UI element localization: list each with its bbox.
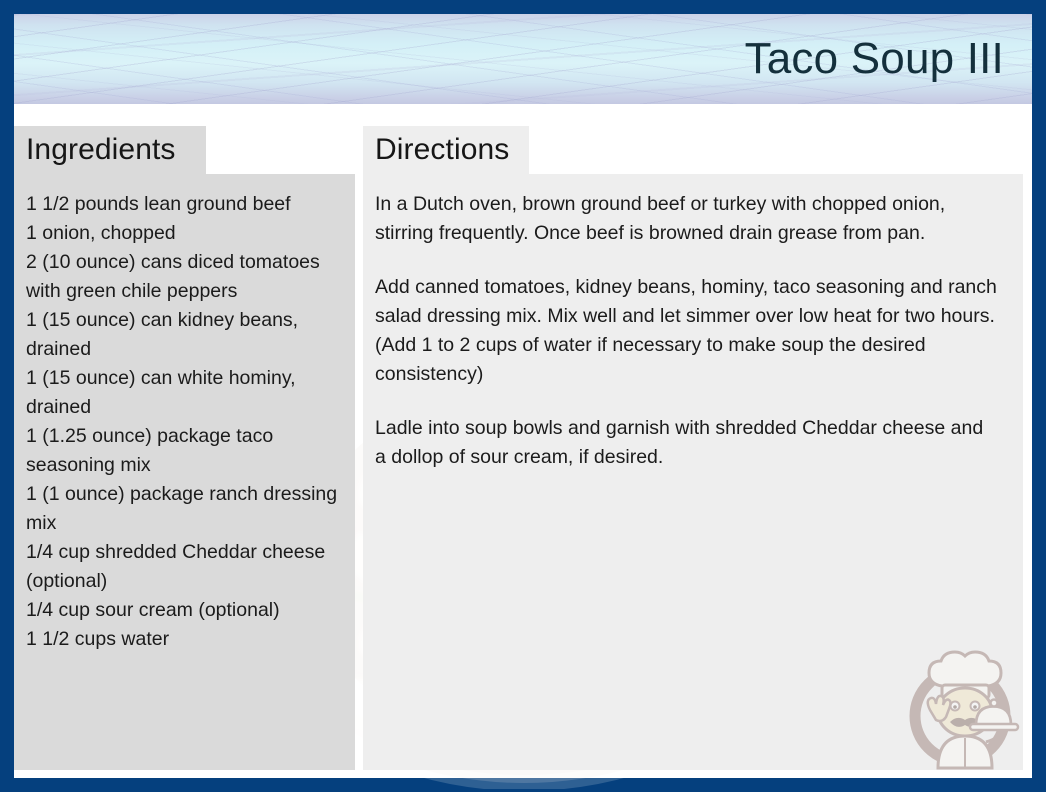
title-banner: Taco Soup III bbox=[14, 14, 1032, 104]
ingredients-heading-label: Ingredients bbox=[26, 133, 176, 167]
ingredient-item: 1 (1 ounce) package ranch dressing mix bbox=[26, 480, 341, 538]
ingredient-item: 1 onion, chopped bbox=[26, 219, 341, 248]
ingredient-item: 1 1/2 pounds lean ground beef bbox=[26, 190, 341, 219]
slide-inner-canvas: Taco Soup III bbox=[14, 14, 1032, 778]
ingredients-heading: Ingredients bbox=[14, 126, 206, 174]
directions-panel: In a Dutch oven, brown ground beef or tu… bbox=[363, 174, 1023, 770]
direction-step: In a Dutch oven, brown ground beef or tu… bbox=[375, 190, 999, 248]
directions-heading-label: Directions bbox=[375, 133, 509, 167]
ingredient-item: 1/4 cup shredded Cheddar cheese (optiona… bbox=[26, 538, 341, 596]
direction-step: Add canned tomatoes, kidney beans, homin… bbox=[375, 273, 999, 389]
ingredient-item: 1/4 cup sour cream (optional) bbox=[26, 596, 341, 625]
ingredient-item: 1 1/2 cups water bbox=[26, 625, 341, 654]
direction-step: Ladle into soup bowls and garnish with s… bbox=[375, 414, 999, 472]
ingredient-item: 2 (10 ounce) cans diced tomatoes with gr… bbox=[26, 248, 341, 306]
ingredient-item: 1 (15 ounce) can kidney beans, drained bbox=[26, 306, 341, 364]
ingredient-item: 1 (1.25 ounce) package taco seasoning mi… bbox=[26, 422, 341, 480]
recipe-slide: Taco Soup III bbox=[0, 0, 1046, 792]
page-title: Taco Soup III bbox=[745, 36, 1004, 82]
directions-heading: Directions bbox=[363, 126, 529, 174]
ingredients-panel: 1 1/2 pounds lean ground beef 1 onion, c… bbox=[14, 174, 355, 770]
ingredient-item: 1 (15 ounce) can white hominy, drained bbox=[26, 364, 341, 422]
column-divider bbox=[355, 174, 363, 770]
